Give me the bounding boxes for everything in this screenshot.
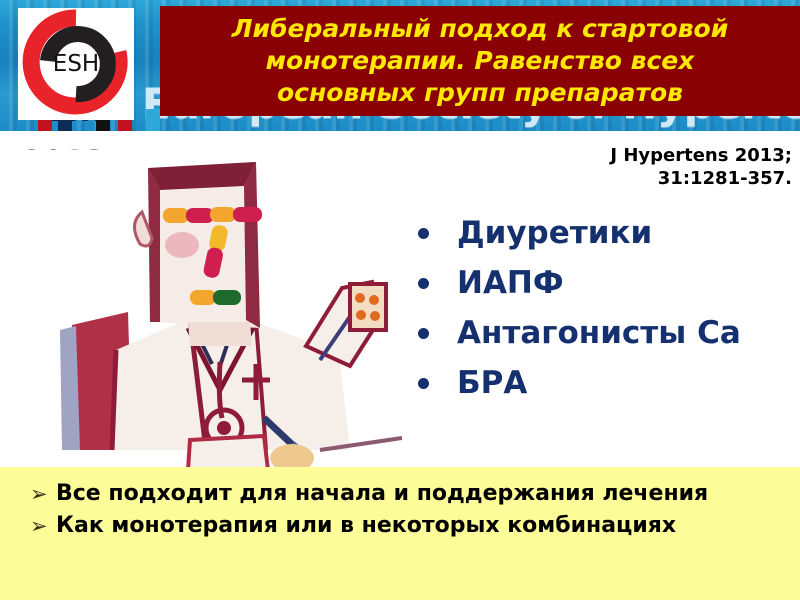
esh-logo-icon: ESH <box>18 8 134 120</box>
slide-header: European Society of Hypertension ESH Либ… <box>0 0 800 131</box>
presentation-slide: European Society of Hypertension ESH Либ… <box>0 0 800 600</box>
masthead-tick <box>146 109 160 131</box>
list-item: Антагонисты Са <box>418 314 788 352</box>
arrow-bullet-icon: ➢ <box>30 511 48 541</box>
drug-class-label: БРА <box>457 364 527 402</box>
callout-list-item: ➢ Как монотерапия или в некоторых комбин… <box>56 511 776 541</box>
slide-title: Либеральный подход к стартовой монотерап… <box>180 13 780 109</box>
callout-list-item: ➢ Все подходит для начала и поддержания … <box>56 479 776 509</box>
citation-reference: J Hypertens 2013; 31:1281-357. <box>462 144 792 190</box>
bullet-dot-icon <box>418 278 429 289</box>
doctor-illustration <box>20 150 402 470</box>
list-item: БРА <box>418 364 788 402</box>
logo-container: ESH <box>18 8 134 120</box>
drug-class-list: Диуретики ИАПФ Антагонисты Са БРА <box>418 214 788 414</box>
callout-text: Как монотерапия или в некоторых комбинац… <box>56 513 676 538</box>
drug-class-label: Антагонисты Са <box>457 314 741 352</box>
bullet-dot-icon <box>418 328 429 339</box>
drug-class-label: Диуретики <box>457 214 652 252</box>
list-item: ИАПФ <box>418 264 788 302</box>
arrow-bullet-icon: ➢ <box>30 479 48 509</box>
drug-class-label: ИАПФ <box>457 264 564 302</box>
pill-capsule <box>210 207 262 222</box>
doctor-illustration-icon <box>20 150 402 470</box>
list-item: Диуретики <box>418 214 788 252</box>
esh-logo-text: ESH <box>53 51 99 77</box>
callout-box: ➢ Все подходит для начала и поддержания … <box>0 467 800 600</box>
pill-capsule <box>190 290 241 305</box>
callout-text: Все подходит для начала и поддержания ле… <box>56 481 708 506</box>
pill-capsule <box>163 208 214 223</box>
title-banner: Либеральный подход к стартовой монотерап… <box>160 6 800 116</box>
bullet-dot-icon <box>418 228 429 239</box>
bullet-dot-icon <box>418 378 429 389</box>
